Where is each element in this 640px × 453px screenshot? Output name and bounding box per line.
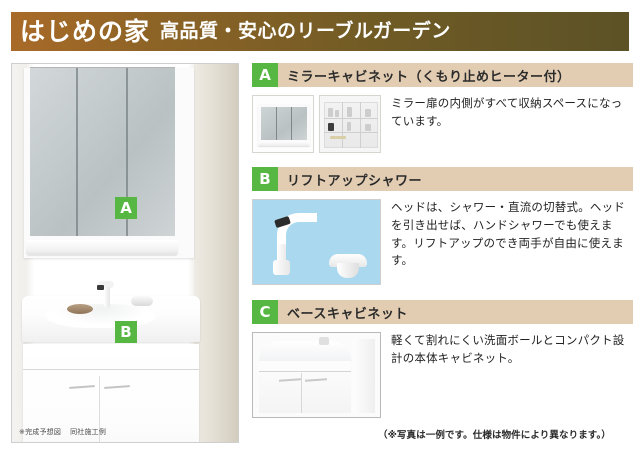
- section-b-figures: [252, 199, 381, 285]
- bathroom-vanity-photo: A B C: [12, 64, 238, 442]
- shelf-row-1: [324, 118, 378, 119]
- banner-subtitle: 高品質・安心のリーブルガーデン: [160, 22, 451, 41]
- section-base-cabinet: C ベースキャビネット 軽くて割れにくい洗面ボールとコンパクト設計の本体キャビネ…: [252, 300, 633, 418]
- disclaimer-footnote: （※写真は一例です。仕様は物件により異なります。）: [252, 427, 633, 441]
- section-c-figures: [252, 332, 381, 418]
- base-cabinet-photo: [252, 332, 381, 418]
- feature-sections: A ミラーキャビネット（くもり止めヒーター付）: [252, 63, 633, 441]
- faucet-nozzle: [97, 285, 104, 290]
- counter-accessory: [67, 304, 93, 314]
- cabinet-faucet: [319, 337, 329, 345]
- shower-head-faucet-photo: [252, 199, 381, 285]
- photo-caption: ※完成予想図同社施工例: [19, 427, 106, 437]
- section-a-text: ミラー扉の内側がすべて収納スペースになっています。: [381, 95, 633, 153]
- faucet-lever: [131, 296, 153, 306]
- cabinet-side-panel: [353, 339, 375, 413]
- section-c-body: 軽くて割れにくい洗面ボールとコンパクト設計の本体キャビネット。: [252, 324, 633, 418]
- mixer-handle-body: [337, 263, 359, 278]
- mirror-cabinet-open-photo: [319, 95, 381, 153]
- closed-cabinet-shelf: [259, 141, 309, 146]
- photo-caption-left: ※完成予想図: [19, 428, 61, 436]
- section-b-header: B リフトアップシャワー: [252, 167, 633, 191]
- closed-cabinet-mirror: [261, 107, 307, 140]
- cabinet-seam: [259, 371, 351, 372]
- section-c-header: C ベースキャビネット: [252, 300, 633, 324]
- shelf-item-4: [365, 109, 371, 117]
- shelf-item-5: [328, 123, 334, 131]
- section-a-badge: A: [252, 63, 278, 87]
- cabinet-door-divider: [301, 373, 302, 413]
- section-b-badge: B: [252, 167, 278, 191]
- main-photo-panel: A B C ※完成予想図同社施工例: [11, 63, 239, 443]
- section-c-text: 軽くて割れにくい洗面ボールとコンパクト設計の本体キャビネット。: [381, 332, 633, 418]
- mirror-surface: [30, 67, 175, 236]
- shelf-item-1: [328, 108, 333, 117]
- mirror-cabinet-shelf: [26, 240, 178, 255]
- closed-mirror-seam-2: [291, 107, 292, 140]
- section-a-body: ミラー扉の内側がすべて収納スペースになっています。: [252, 87, 633, 153]
- banner-title: はじめの家: [20, 19, 150, 44]
- drawer-seam: [23, 369, 199, 370]
- shelf-item-2: [335, 110, 339, 117]
- section-b-title: リフトアップシャワー: [278, 167, 633, 191]
- photo-marker-b: B: [115, 321, 137, 343]
- section-c-title: ベースキャビネット: [278, 300, 633, 324]
- section-a-title: ミラーキャビネット（くもり止めヒーター付）: [278, 63, 633, 87]
- faucet-neck: [104, 286, 110, 308]
- shower-base: [273, 260, 290, 275]
- wash-bowl: [46, 304, 156, 328]
- shelf-item-6: [347, 122, 351, 131]
- page-banner: はじめの家 高品質・安心のリーブルガーデン: [11, 12, 629, 51]
- photo-marker-a: A: [115, 197, 137, 219]
- shelf-item-8: [330, 136, 346, 139]
- shelf-divider-2: [360, 102, 361, 148]
- wash-bowl-top: [259, 341, 351, 363]
- cabinet-front: [259, 361, 351, 413]
- shelf-item-7: [365, 124, 371, 131]
- section-lift-up-shower: B リフトアップシャワー ヘッドは、シャワー・直流の切替式。ヘッドを引き出せば、…: [252, 167, 633, 285]
- wall-background: [194, 64, 238, 442]
- section-b-text: ヘッドは、シャワー・直流の切替式。ヘッドを引き出せば、ハンドシャワーでも使えます…: [381, 199, 633, 285]
- section-a-header: A ミラーキャビネット（くもり止めヒーター付）: [252, 63, 633, 87]
- shelf-row-2: [324, 132, 378, 133]
- mirror-seam-left: [76, 68, 78, 236]
- shelf-divider-1: [342, 102, 343, 148]
- photo-caption-right: 同社施工例: [70, 428, 106, 436]
- section-b-body: ヘッドは、シャワー・直流の切替式。ヘッドを引き出せば、ハンドシャワーでも使えます…: [252, 191, 633, 285]
- section-mirror-cabinet: A ミラーキャビネット（くもり止めヒーター付）: [252, 63, 633, 153]
- mirror-cabinet-closed-photo: [252, 95, 314, 153]
- section-a-figures: [252, 95, 381, 153]
- closed-mirror-seam-1: [276, 107, 277, 140]
- section-c-badge: C: [252, 300, 278, 324]
- shelf-item-3: [347, 107, 352, 117]
